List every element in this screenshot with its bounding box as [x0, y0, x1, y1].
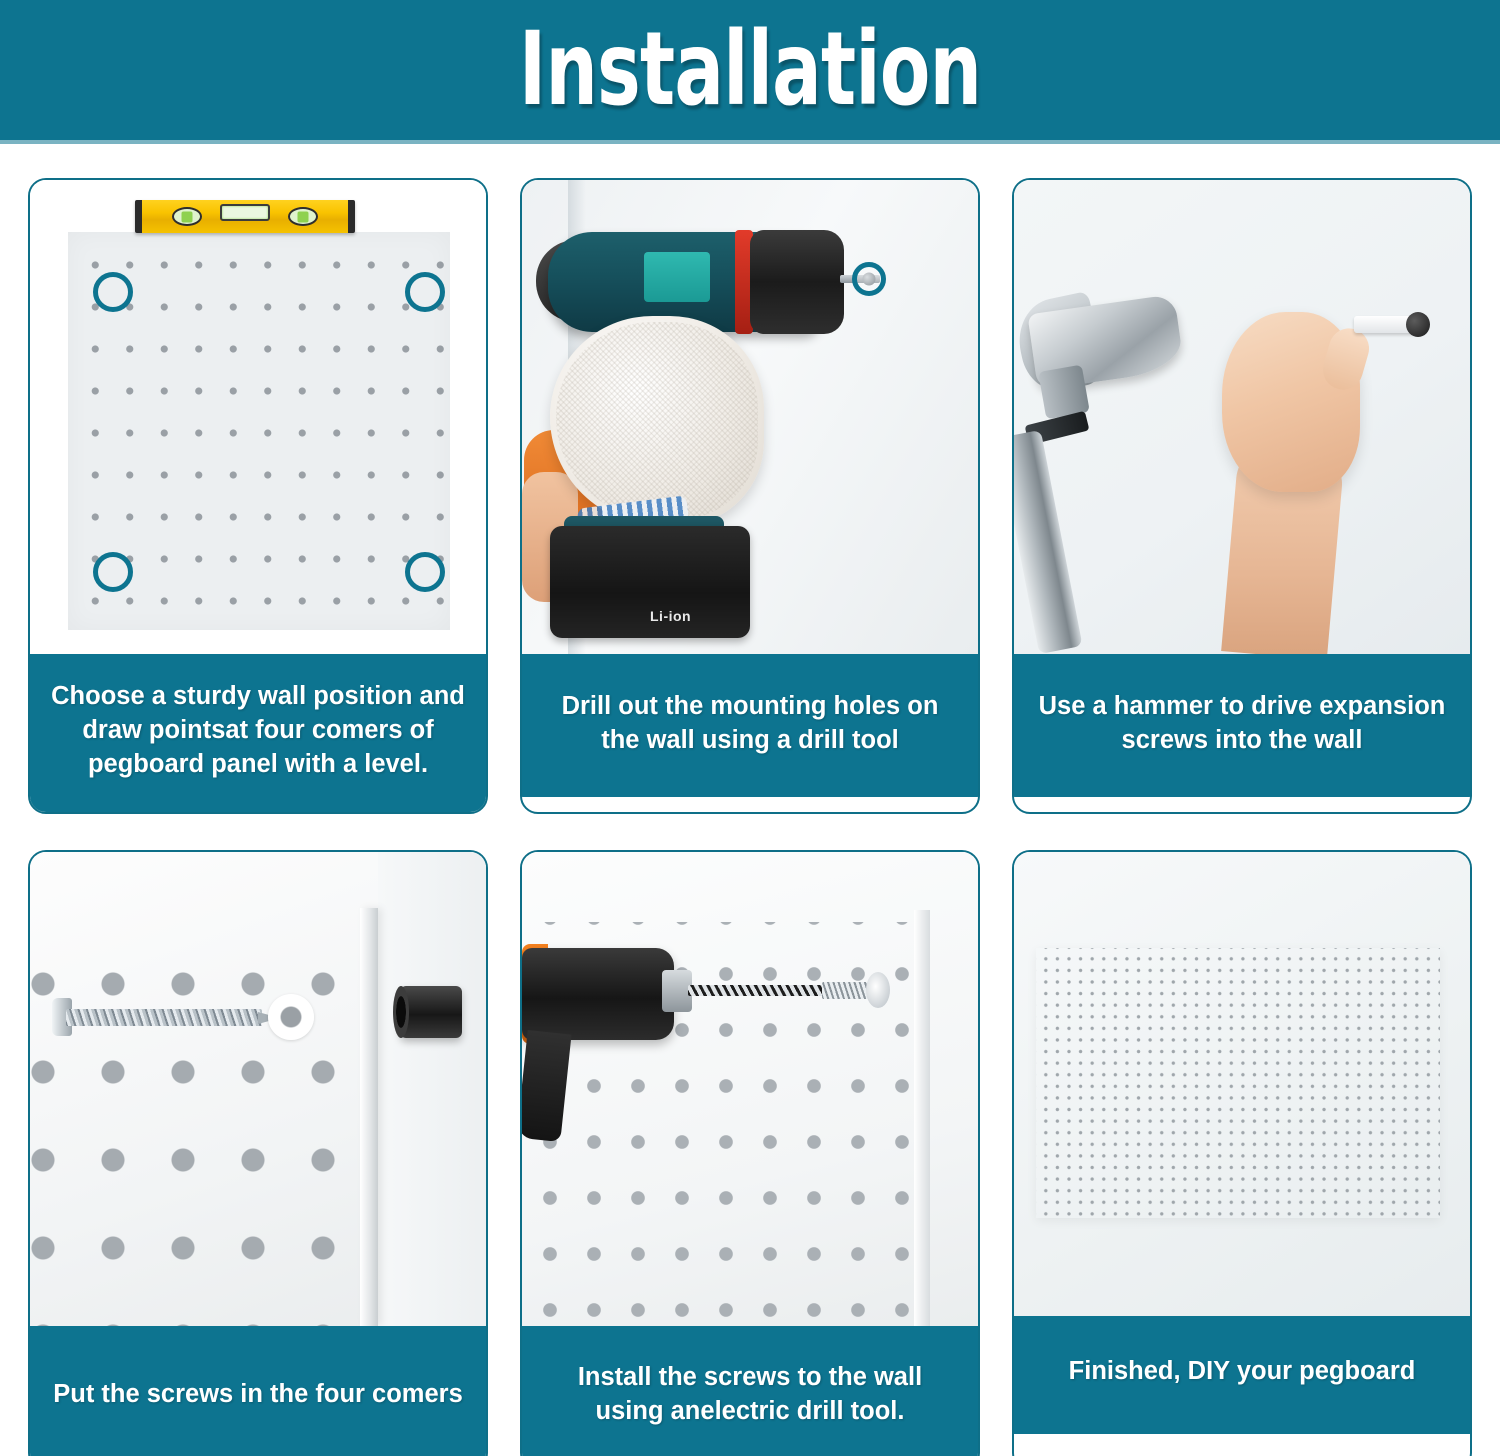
step-3-image — [1014, 180, 1470, 654]
page-header: Installation — [0, 0, 1500, 140]
pegboard-side-edge — [360, 908, 378, 1326]
anchor-screw-head — [1406, 312, 1430, 337]
step-4-image — [30, 852, 486, 1326]
pegboard-panel — [30, 924, 366, 1326]
step-1-image — [30, 180, 486, 654]
page-title: Installation — [519, 19, 981, 121]
step-card-4: Put the screws in the four comers — [28, 850, 488, 1456]
step-card-3: Use a hammer to drive expansion screws i… — [1012, 178, 1472, 814]
screw-shaft — [66, 1009, 262, 1026]
step-2-image: Li-ion — [522, 180, 978, 654]
black-spacer — [400, 986, 462, 1038]
step-card-2: Li-ion Drill out the mounting holes on t… — [520, 178, 980, 814]
step-6-image — [1014, 852, 1470, 1316]
white-washer — [268, 994, 314, 1040]
corner-marker-bottom-right — [405, 552, 445, 592]
drill-point-marker — [852, 262, 886, 296]
battery-label: Li-ion — [650, 608, 691, 624]
corner-marker-bottom-left — [93, 552, 133, 592]
step-1-caption: Choose a sturdy wall position and draw p… — [30, 654, 486, 812]
step-5-caption: Install the screws to the wall using ane… — [522, 1326, 978, 1456]
screw-head — [866, 972, 890, 1008]
corner-marker-top-right — [405, 272, 445, 312]
steps-grid: Choose a sturdy wall position and draw p… — [28, 178, 1472, 1456]
drill-bit — [688, 985, 828, 996]
step-card-6: Finished, DIY your pegboard — [1012, 850, 1472, 1456]
wall-surface — [378, 852, 486, 1326]
level-vial-right-icon — [288, 207, 318, 226]
step-4-caption: Put the screws in the four comers — [30, 1326, 486, 1456]
finished-pegboard-panel — [1036, 948, 1440, 1218]
installation-infographic: Installation Choose a sturdy wall p — [0, 0, 1500, 1456]
step-2-caption: Drill out the mounting holes on the wall… — [522, 654, 978, 797]
header-divider — [0, 140, 1500, 144]
pegboard-side-edge — [914, 910, 930, 1326]
drill-display-panel — [644, 252, 710, 302]
corner-marker-top-left — [93, 272, 133, 312]
step-6-caption: Finished, DIY your pegboard — [1014, 1316, 1470, 1434]
level-vial-left-icon — [172, 207, 202, 226]
step-card-1: Choose a sturdy wall position and draw p… — [28, 178, 488, 814]
spirit-level-icon — [135, 200, 355, 233]
step-3-caption: Use a hammer to drive expansion screws i… — [1014, 654, 1470, 797]
step-card-5: Install the screws to the wall using ane… — [520, 850, 980, 1456]
drill-body — [522, 948, 674, 1040]
hammer-handle — [1014, 430, 1083, 654]
work-glove — [550, 316, 764, 526]
step-5-image — [522, 852, 978, 1326]
drill-chuck — [750, 230, 844, 334]
